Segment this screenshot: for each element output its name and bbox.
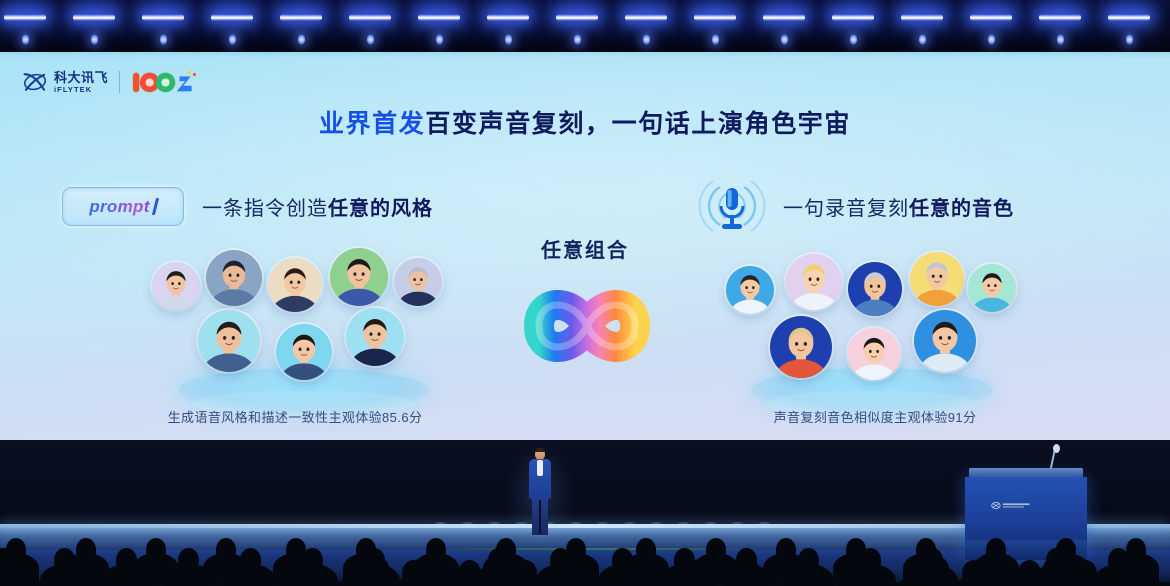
brand-name-en: iFLYTEK <box>54 86 108 94</box>
audience-head <box>122 560 145 586</box>
iflytek-mark-icon <box>22 70 48 94</box>
left-headline-bold: 任意的风格 <box>328 198 433 220</box>
presenter-on-stage <box>527 448 553 532</box>
audience-silhouettes <box>0 536 1170 586</box>
audience-head <box>906 560 929 586</box>
podium-mic-head-icon <box>1053 444 1060 453</box>
audience-head <box>570 560 593 586</box>
podium-logo <box>991 501 1033 510</box>
audience-head <box>1018 560 1041 586</box>
right-caption: 声音复刻音色相似度主观体验91分 <box>580 407 1170 426</box>
audience-head <box>706 538 726 561</box>
ceiling-lamp <box>418 14 460 21</box>
brand-name-cn: 科大讯飞 <box>54 71 108 84</box>
boy-with-ball-avatar <box>268 258 322 312</box>
conference-stage-photo: 科大讯飞 iFLYTEK 业界首发百变声音复刻，一句话上演角色宇宙 prompt <box>0 0 1170 586</box>
swordsman-avatar <box>198 310 260 372</box>
iflytek-logo: 科大讯飞 iFLYTEK <box>22 70 108 94</box>
audience-head <box>234 560 257 586</box>
left-headline-prefix: 一条指令创造 <box>202 198 328 220</box>
ceiling-lamp <box>487 14 529 21</box>
ceiling-lamp-dot <box>367 34 374 45</box>
ceiling-lamp <box>211 14 253 21</box>
audience-head <box>794 560 817 586</box>
auditorium <box>0 440 1170 586</box>
ceiling-lamp <box>73 14 115 21</box>
ceiling-lamp-dot <box>1057 34 1064 45</box>
prompt-chip-label: prompt <box>89 197 149 217</box>
suited-man-avatar <box>346 308 404 366</box>
ceiling-lamp-dot <box>850 34 857 45</box>
audience-head <box>402 560 425 586</box>
slide-title: 业界首发百变声音复刻，一句话上演角色宇宙 <box>0 104 1170 140</box>
presenter-hair <box>535 448 545 452</box>
audience-head <box>738 560 761 586</box>
audience-head <box>626 560 649 586</box>
ceiling-lamp-dot <box>505 34 512 45</box>
avatar-bubble[interactable] <box>276 324 332 380</box>
audience-head <box>776 538 796 561</box>
slide-top-band <box>0 52 1170 58</box>
prompt-chip: prompt <box>62 187 184 226</box>
audience-head <box>1108 548 1129 572</box>
title-rest: 百变声音复刻，一句话上演角色宇宙 <box>425 110 851 138</box>
ceiling-lamp-dot <box>781 34 788 45</box>
grey-hair-man-avatar <box>848 262 902 316</box>
audience-head <box>290 560 313 586</box>
little-girl-avatar <box>848 328 900 380</box>
long-hair-woman-avatar <box>152 262 200 310</box>
dark-hair-girl-avatar <box>276 324 332 380</box>
audience-head <box>488 548 509 572</box>
ceiling-lamp <box>694 14 736 21</box>
ceiling-lamp <box>625 14 667 21</box>
glasses-man-avatar <box>726 266 774 314</box>
avatar-bubble[interactable] <box>914 310 976 372</box>
infinity-symbol-icon <box>487 274 687 378</box>
ceiling-lamp <box>763 14 805 21</box>
right-headline-prefix: 一句录音复刻 <box>783 198 909 220</box>
avatar-bubble[interactable] <box>346 308 404 366</box>
ceiling-lamp <box>1039 14 1081 21</box>
presenter-shirt <box>537 460 543 476</box>
audience-head <box>1074 560 1097 586</box>
young-boy-avatar <box>968 264 1016 312</box>
audience-head <box>636 538 656 561</box>
ceiling-lamp <box>349 14 391 21</box>
presenter-leg-gap <box>539 500 541 534</box>
audience-head <box>178 560 201 586</box>
ceiling-lamp-dot <box>436 34 443 45</box>
ceiling-lamp-dot <box>1126 34 1133 45</box>
ceiling-lamp-dot <box>643 34 650 45</box>
audience-head <box>682 560 705 586</box>
audience-head <box>216 538 236 561</box>
audience-head <box>76 538 96 561</box>
avatar-bubble[interactable] <box>268 258 322 312</box>
avatar-bubble[interactable] <box>726 266 774 314</box>
event-1024-logo <box>131 68 198 96</box>
right-panel-header: 一句录音复刻任意的音色 <box>695 174 1014 238</box>
avatar-bubble[interactable] <box>968 264 1016 312</box>
slide-logo-bar: 科大讯飞 iFLYTEK <box>22 68 198 96</box>
ceiling-lamp-dot <box>160 34 167 45</box>
right-headline-bold: 任意的音色 <box>909 198 1014 220</box>
ceiling-lamp <box>901 14 943 21</box>
title-highlight: 业界首发 <box>319 110 425 138</box>
ceiling-lamp <box>970 14 1012 21</box>
avatar-bubble[interactable] <box>848 328 900 380</box>
ceiling-lamp-dot <box>988 34 995 45</box>
audience-head <box>346 560 369 586</box>
right-headline: 一句录音复刻任意的音色 <box>783 192 1014 221</box>
audience-head <box>1130 560 1153 586</box>
ceiling-lamp-dot <box>919 34 926 45</box>
ceiling-lamp <box>142 14 184 21</box>
audience-head <box>10 560 33 586</box>
text-cursor-icon <box>152 198 159 215</box>
audience-head <box>1126 538 1146 561</box>
ceiling-lamp <box>556 14 598 21</box>
elder-man-avatar <box>394 258 442 306</box>
presentation-slide: 科大讯飞 iFLYTEK 业界首发百变声音复刻，一句话上演角色宇宙 prompt <box>0 52 1170 440</box>
center-label: 任意组合 <box>0 234 1170 263</box>
avatar-bubble[interactable] <box>152 262 200 310</box>
audience-head <box>514 560 537 586</box>
ceiling-lamp <box>4 14 46 21</box>
ceiling-lamp <box>1108 14 1150 21</box>
audience-head <box>850 560 873 586</box>
audience-head <box>146 538 166 561</box>
blond-elder-avatar <box>770 316 832 378</box>
ceiling-lamp-dot <box>712 34 719 45</box>
microphone-icon <box>695 174 769 238</box>
ceiling-lamp <box>280 14 322 21</box>
glasses-woman-avatar <box>914 310 976 372</box>
audience-head <box>458 560 481 586</box>
ceiling-lamp-dot <box>298 34 305 45</box>
avatar-bubble[interactable] <box>394 258 442 306</box>
avatar-bubble[interactable] <box>198 310 260 372</box>
ceiling-lamp-dot <box>91 34 98 45</box>
avatar-bubble[interactable] <box>770 316 832 378</box>
lamp-row <box>0 0 1170 52</box>
avatar-bubble[interactable] <box>848 262 902 316</box>
stage-ceiling-light-truss <box>0 0 1170 52</box>
ceiling-lamp-dot <box>574 34 581 45</box>
audience-head <box>984 548 1005 572</box>
audience-head <box>962 560 985 586</box>
audience-head <box>550 548 571 572</box>
left-headline: 一条指令创造任意的风格 <box>202 192 433 221</box>
audience-head <box>1046 548 1067 572</box>
left-caption: 生成语音风格和描述一致性主观体验85.6分 <box>0 407 590 426</box>
left-panel-header: prompt 一条指令创造任意的风格 <box>62 187 433 226</box>
logo-divider <box>119 71 120 93</box>
ceiling-lamp-dot <box>22 34 29 45</box>
ceiling-lamp-dot <box>229 34 236 45</box>
ceiling-lamp <box>832 14 874 21</box>
audience-head <box>66 560 89 586</box>
audience-head <box>426 548 447 572</box>
